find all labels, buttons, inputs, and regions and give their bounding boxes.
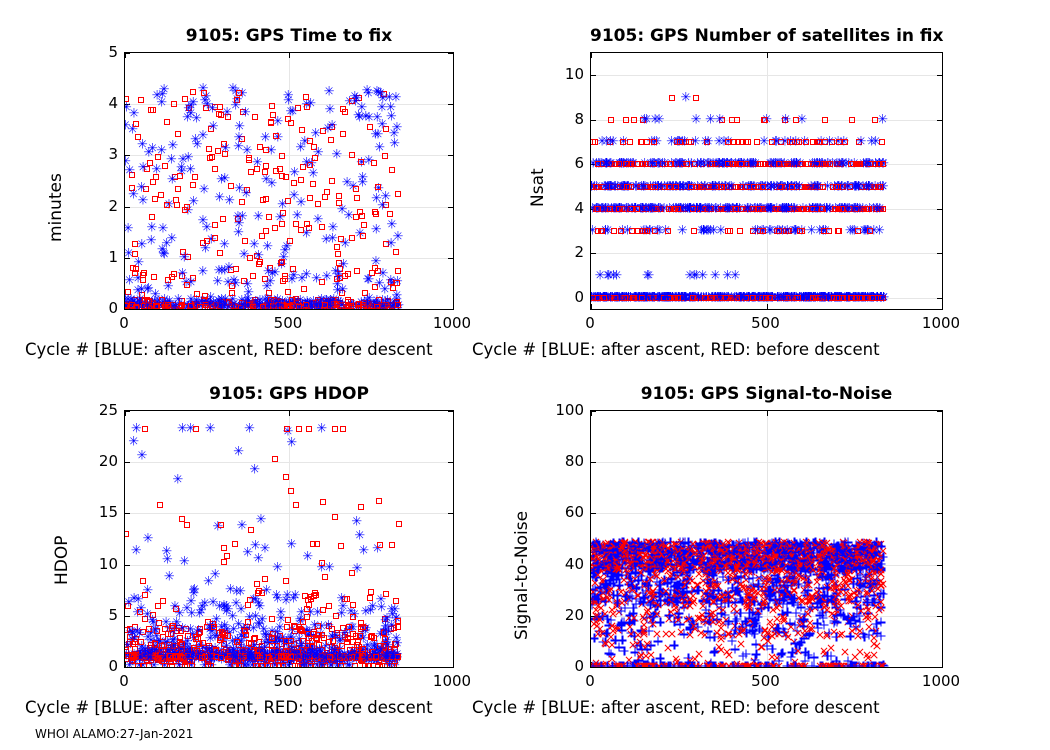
data-point-blue bbox=[618, 636, 627, 645]
data-point-red bbox=[356, 301, 362, 307]
data-point-blue: ✳ bbox=[316, 425, 327, 434]
data-point-blue: ✳ bbox=[336, 609, 347, 618]
data-point-red bbox=[298, 177, 304, 183]
y-tick bbox=[448, 616, 453, 617]
data-point-red bbox=[393, 598, 399, 604]
data-point-blue: ✳ bbox=[282, 592, 293, 601]
data-point-red bbox=[595, 161, 601, 167]
data-point-red bbox=[157, 502, 163, 508]
data-point-red bbox=[269, 103, 275, 109]
y-tick bbox=[125, 462, 130, 463]
plot-area: ✳✳✳✳✳✳✳✳✳✳✳✳✳✳✳✳✳✳✳✳✳✳✳✳✳✳✳✳✳✳✳✳✳✳✳✳✳✳✳✳… bbox=[124, 52, 454, 310]
data-point-red bbox=[162, 663, 168, 668]
data-point-blue: ✳ bbox=[330, 267, 341, 276]
data-point-red bbox=[354, 195, 360, 201]
data-point-red bbox=[326, 603, 332, 609]
data-point-blue: ✳ bbox=[715, 115, 726, 124]
data-point-blue: ✳ bbox=[654, 227, 665, 236]
data-point-blue: ✳ bbox=[726, 182, 737, 191]
data-point-red bbox=[211, 624, 217, 630]
y-tick-label: 25 bbox=[78, 401, 118, 419]
data-point-red bbox=[644, 139, 650, 145]
data-point-red bbox=[389, 542, 395, 548]
data-point-blue: ✳ bbox=[691, 271, 702, 280]
data-point-red bbox=[675, 206, 681, 212]
data-point-red bbox=[160, 598, 166, 604]
data-point-red bbox=[288, 488, 294, 494]
data-point-blue: ✳ bbox=[193, 626, 204, 635]
data-point-red bbox=[769, 139, 775, 145]
data-point-red bbox=[739, 139, 745, 145]
data-point-blue: ✳ bbox=[305, 100, 316, 109]
data-point-red bbox=[708, 295, 714, 301]
y-tick bbox=[125, 53, 130, 54]
y-tick bbox=[937, 75, 942, 76]
data-point-red bbox=[353, 214, 359, 220]
data-point-blue: ✳ bbox=[845, 227, 856, 236]
data-point-blue: ✳ bbox=[374, 144, 385, 153]
data-point-red bbox=[718, 184, 724, 190]
y-tick bbox=[125, 513, 130, 514]
data-point-blue: ✳ bbox=[677, 227, 688, 236]
data-point-red bbox=[387, 211, 393, 217]
data-point-red bbox=[673, 184, 679, 190]
data-point-blue: ✳ bbox=[230, 280, 241, 289]
data-point-red bbox=[141, 663, 147, 668]
data-point-blue: ✳ bbox=[357, 178, 368, 187]
data-point-blue: ✳ bbox=[147, 617, 158, 626]
y-tick bbox=[937, 411, 942, 412]
data-point-red bbox=[212, 235, 218, 241]
data-point-red bbox=[140, 578, 146, 584]
data-point-blue: ✳ bbox=[806, 227, 817, 236]
data-point-red bbox=[760, 228, 766, 234]
y-tick bbox=[448, 513, 453, 514]
data-point-blue: ✳ bbox=[380, 193, 391, 202]
data-point-red bbox=[338, 236, 344, 242]
y-tick bbox=[448, 565, 453, 566]
data-point-red bbox=[816, 139, 822, 145]
data-point-red bbox=[268, 119, 274, 125]
data-point-red bbox=[293, 221, 299, 227]
x-tick-label: 0 bbox=[585, 314, 595, 332]
data-point-blue: ✳ bbox=[257, 616, 268, 625]
data-point-red bbox=[221, 559, 227, 565]
y-tick bbox=[591, 462, 596, 463]
data-point-blue: ✳ bbox=[729, 293, 740, 302]
data-point-red bbox=[319, 224, 325, 230]
gridline bbox=[591, 75, 942, 76]
data-point-blue: ✳ bbox=[675, 160, 686, 169]
data-point-blue: ✳ bbox=[129, 110, 140, 119]
data-point-red bbox=[864, 295, 870, 301]
y-tick bbox=[125, 667, 130, 668]
data-point-red bbox=[252, 114, 258, 120]
data-point-blue: ✳ bbox=[202, 100, 213, 109]
data-point-red bbox=[702, 295, 708, 301]
data-point-red bbox=[197, 304, 203, 310]
data-point-red bbox=[608, 117, 614, 123]
data-point-red bbox=[842, 139, 848, 145]
data-point-blue: ✳ bbox=[220, 174, 231, 183]
data-point-red bbox=[396, 521, 402, 527]
data-point-red bbox=[132, 270, 138, 276]
data-point-blue: ✳ bbox=[286, 540, 297, 549]
data-point-blue: ✳ bbox=[142, 285, 153, 294]
gridline bbox=[591, 513, 942, 514]
data-point-red bbox=[243, 632, 249, 638]
data-point-red bbox=[374, 304, 380, 310]
data-point-red bbox=[304, 221, 310, 227]
y-tick-label: 3 bbox=[78, 145, 118, 163]
data-point-red bbox=[867, 228, 873, 234]
y-tick bbox=[937, 164, 942, 165]
data-point-red bbox=[212, 166, 218, 172]
data-point-blue: ✳ bbox=[714, 138, 725, 147]
y-tick-label: 2 bbox=[544, 243, 584, 261]
data-point-red bbox=[359, 213, 365, 219]
data-point-blue: ✳ bbox=[132, 627, 143, 636]
data-point-blue: ✳ bbox=[780, 115, 791, 124]
data-point-red bbox=[169, 625, 175, 631]
data-point-blue: ✳ bbox=[288, 108, 299, 117]
data-point-red bbox=[232, 541, 238, 547]
data-point-red bbox=[371, 160, 377, 166]
data-point-red bbox=[810, 295, 816, 301]
data-point-blue: ✳ bbox=[249, 466, 260, 475]
data-point-blue: ✳ bbox=[277, 201, 288, 210]
data-point-red bbox=[737, 228, 743, 234]
data-point-blue: ✳ bbox=[253, 213, 264, 222]
data-point-red bbox=[177, 653, 183, 659]
data-point-blue: ✳ bbox=[298, 662, 309, 668]
data-point-red bbox=[265, 663, 271, 668]
panel-gps-number-of-satellites: 9105: GPS Number of satellites in fix ✳✳… bbox=[590, 52, 943, 310]
data-point-blue: ✳ bbox=[219, 241, 230, 250]
data-point-blue: ✳ bbox=[197, 603, 208, 612]
x-tick bbox=[453, 53, 454, 58]
data-point-red bbox=[612, 161, 618, 167]
data-point-red bbox=[797, 228, 803, 234]
gridline bbox=[591, 462, 942, 463]
data-point-blue: ✳ bbox=[138, 196, 149, 205]
data-point-red bbox=[358, 159, 364, 165]
data-point-red bbox=[153, 304, 159, 310]
data-point-blue: ✳ bbox=[214, 193, 225, 202]
data-point-blue: ✳ bbox=[358, 546, 369, 555]
data-point-blue: ✳ bbox=[242, 281, 253, 290]
data-point-blue: ✳ bbox=[787, 293, 798, 302]
data-point-red bbox=[301, 286, 307, 292]
x-tick bbox=[942, 304, 943, 309]
data-point-blue: ✳ bbox=[199, 185, 210, 194]
data-point-blue: ✳ bbox=[878, 293, 889, 302]
y-tick bbox=[937, 120, 942, 121]
data-point-blue: ✳ bbox=[198, 267, 209, 276]
data-point-red bbox=[665, 228, 671, 234]
data-point-red bbox=[763, 295, 769, 301]
x-tick bbox=[289, 411, 290, 416]
data-point-red bbox=[839, 206, 845, 212]
data-point-blue: ✳ bbox=[219, 621, 230, 630]
data-point-red bbox=[208, 663, 214, 668]
data-point-red bbox=[259, 663, 265, 668]
data-point-red bbox=[732, 161, 738, 167]
data-point-red bbox=[307, 138, 313, 144]
plot-area: ✳✳✳✳✳✳✳✳✳✳✳✳✳✳✳✳✳✳✳✳✳✳✳✳✳✳✳✳✳✳✳✳✳✳✳✳✳✳✳✳… bbox=[124, 410, 454, 668]
data-point-blue: ✳ bbox=[269, 302, 280, 310]
data-point-red bbox=[635, 161, 641, 167]
data-point-blue: ✳ bbox=[131, 425, 142, 434]
x-tick-label: 500 bbox=[274, 314, 303, 332]
data-point-red bbox=[734, 117, 740, 123]
data-point-red bbox=[174, 202, 180, 208]
y-tick-label: 5 bbox=[78, 43, 118, 61]
data-point-red bbox=[395, 191, 401, 197]
figure-canvas: 9105: GPS Time to fix ✳✳✳✳✳✳✳✳✳✳✳✳✳✳✳✳✳✳… bbox=[0, 0, 1050, 750]
data-point-red bbox=[263, 147, 269, 153]
data-point-red bbox=[164, 119, 170, 125]
data-point-red bbox=[259, 233, 265, 239]
x-tick-label: 0 bbox=[119, 314, 129, 332]
y-tick bbox=[448, 53, 453, 54]
data-point-red bbox=[332, 514, 338, 520]
data-point-red bbox=[382, 663, 388, 668]
data-point-red bbox=[756, 206, 762, 212]
y-tick bbox=[937, 462, 942, 463]
x-tick-label: 500 bbox=[751, 314, 780, 332]
data-point-red bbox=[849, 295, 855, 301]
data-point-blue: ✳ bbox=[167, 141, 178, 150]
data-point-blue: ✳ bbox=[164, 573, 175, 582]
data-point-red bbox=[135, 134, 141, 140]
data-point-red bbox=[395, 624, 401, 630]
panel-title: 9105: GPS Signal-to-Noise bbox=[590, 384, 943, 404]
x-tick bbox=[942, 662, 943, 667]
data-point-red bbox=[690, 295, 696, 301]
y-axis-title: HDOP bbox=[52, 535, 72, 585]
data-point-red bbox=[272, 225, 278, 231]
data-point-red bbox=[254, 581, 260, 587]
data-point-red bbox=[221, 545, 227, 551]
data-point-blue: ✳ bbox=[271, 592, 282, 601]
data-point-blue: ✳ bbox=[874, 227, 885, 236]
data-point-blue: ✳ bbox=[779, 204, 790, 213]
data-point-red bbox=[634, 206, 640, 212]
data-point-blue: ✳ bbox=[178, 156, 189, 165]
data-point-blue: ✳ bbox=[249, 240, 260, 249]
data-point-red bbox=[184, 663, 190, 668]
data-point-red bbox=[348, 303, 354, 309]
data-point-blue: ✳ bbox=[386, 221, 397, 230]
data-point-red bbox=[273, 133, 279, 139]
data-point-blue: ✳ bbox=[236, 606, 247, 615]
y-tick-label: 1 bbox=[78, 248, 118, 266]
data-point-red bbox=[269, 616, 275, 622]
data-point-blue: ✳ bbox=[311, 274, 322, 283]
panel-title: 9105: GPS Time to fix bbox=[124, 26, 454, 46]
y-tick-label: 2 bbox=[78, 197, 118, 215]
data-point-blue: ✳ bbox=[854, 204, 865, 213]
data-point-red bbox=[611, 228, 617, 234]
data-point-red bbox=[296, 426, 302, 432]
y-tick bbox=[448, 309, 453, 310]
data-point-blue: ✳ bbox=[287, 276, 298, 285]
x-tick bbox=[942, 53, 943, 58]
data-point-red bbox=[218, 655, 224, 661]
data-point-blue: ✳ bbox=[136, 241, 147, 250]
data-point-blue: ✳ bbox=[824, 138, 835, 147]
data-point-red bbox=[377, 542, 383, 548]
data-point-blue: ✳ bbox=[614, 293, 625, 302]
data-point-blue: ✳ bbox=[151, 165, 162, 174]
x-tick bbox=[767, 53, 768, 58]
data-point-blue: ✳ bbox=[661, 293, 672, 302]
data-point-blue: ✳ bbox=[308, 170, 319, 179]
data-point-blue: ✳ bbox=[198, 217, 209, 226]
y-tick bbox=[591, 411, 596, 412]
data-point-red bbox=[257, 144, 263, 150]
data-point-blue: ✳ bbox=[393, 233, 404, 242]
data-point-blue: ✳ bbox=[224, 662, 235, 668]
y-tick-label: 5 bbox=[78, 606, 118, 624]
data-point-blue: ✳ bbox=[705, 115, 716, 124]
data-point-blue: ✳ bbox=[256, 516, 267, 525]
data-point-red bbox=[169, 663, 175, 668]
data-point-blue: ✳ bbox=[210, 632, 221, 641]
gridline bbox=[591, 253, 942, 254]
data-point-red bbox=[358, 504, 364, 510]
data-point-red bbox=[776, 161, 782, 167]
data-point-blue: ✳ bbox=[208, 123, 219, 132]
y-tick bbox=[591, 253, 596, 254]
data-point-blue: ✳ bbox=[336, 302, 347, 310]
data-point-blue: ✳ bbox=[241, 189, 252, 198]
y-tick bbox=[448, 155, 453, 156]
data-point-blue: ✳ bbox=[219, 303, 230, 310]
data-point-blue: ✳ bbox=[262, 242, 273, 251]
data-point-blue: ✳ bbox=[240, 109, 251, 118]
data-point-red bbox=[793, 117, 799, 123]
data-point-blue: ✳ bbox=[356, 104, 367, 113]
data-point-blue: ✳ bbox=[161, 639, 172, 648]
data-point-red bbox=[789, 139, 795, 145]
data-point-red bbox=[206, 146, 212, 152]
data-point-blue: ✳ bbox=[235, 587, 246, 596]
x-tick-label: 1000 bbox=[433, 672, 471, 690]
data-point-red bbox=[340, 426, 346, 432]
data-point-blue: ✳ bbox=[638, 182, 649, 191]
data-point-blue: ✳ bbox=[205, 300, 216, 309]
data-point-red bbox=[130, 265, 136, 271]
data-point-red bbox=[164, 202, 170, 208]
data-point-red bbox=[595, 206, 601, 212]
data-point-blue: ✳ bbox=[295, 144, 306, 153]
data-point-blue: ✳ bbox=[654, 115, 665, 124]
data-point-red bbox=[796, 139, 802, 145]
data-point-red bbox=[279, 221, 285, 227]
data-point-blue: ✳ bbox=[242, 147, 253, 156]
data-point-red bbox=[262, 169, 268, 175]
y-tick bbox=[937, 298, 942, 299]
y-tick bbox=[937, 565, 942, 566]
y-tick-label: 8 bbox=[544, 110, 584, 128]
data-point-red bbox=[620, 139, 626, 145]
data-point-red bbox=[291, 623, 297, 629]
data-point-blue: ✳ bbox=[363, 275, 374, 284]
data-point-red bbox=[184, 522, 190, 528]
data-point-red bbox=[284, 426, 290, 432]
data-point-blue: ✳ bbox=[354, 532, 365, 541]
data-point-blue: ✳ bbox=[321, 236, 332, 245]
data-point-red bbox=[340, 131, 346, 137]
data-point-red bbox=[218, 522, 224, 528]
data-point-red bbox=[729, 117, 735, 123]
data-point-red bbox=[224, 553, 230, 559]
data-point-red bbox=[360, 233, 366, 239]
y-tick-label: 10 bbox=[78, 555, 118, 573]
data-point-blue: ✳ bbox=[877, 115, 888, 124]
data-point-blue: ✳ bbox=[142, 302, 153, 310]
data-point-red bbox=[266, 214, 272, 220]
data-point-red bbox=[836, 295, 842, 301]
data-point-red bbox=[642, 161, 648, 167]
data-point-red bbox=[248, 527, 254, 533]
data-point-red bbox=[150, 107, 156, 113]
data-point-red bbox=[303, 94, 309, 100]
data-point-red bbox=[319, 560, 325, 566]
data-point-blue: ✳ bbox=[371, 226, 382, 235]
data-point-red bbox=[623, 117, 629, 123]
x-tick-label: 1000 bbox=[433, 314, 471, 332]
data-point-blue: ✳ bbox=[230, 101, 241, 110]
data-point-blue: ✳ bbox=[609, 182, 620, 191]
data-point-blue: ✳ bbox=[703, 138, 714, 147]
data-point-red bbox=[373, 654, 379, 660]
data-point-red bbox=[353, 633, 359, 639]
data-point-red bbox=[599, 228, 605, 234]
data-point-red bbox=[124, 531, 129, 537]
data-point-blue: ✳ bbox=[370, 130, 381, 139]
data-point-red bbox=[803, 139, 809, 145]
data-point-blue: ✳ bbox=[325, 106, 336, 115]
data-point-red bbox=[338, 543, 344, 549]
data-point-red bbox=[315, 201, 321, 207]
data-point-blue: ✳ bbox=[289, 168, 300, 177]
data-point-red bbox=[179, 516, 185, 522]
data-point-red bbox=[306, 426, 312, 432]
data-point-blue: ✳ bbox=[219, 602, 230, 611]
data-point-red bbox=[283, 578, 289, 584]
data-point-red bbox=[255, 590, 261, 596]
data-point-red bbox=[322, 302, 328, 308]
data-point-blue: ✳ bbox=[163, 282, 174, 291]
y-tick-label: 20 bbox=[78, 452, 118, 470]
data-point-red bbox=[821, 228, 827, 234]
data-point-blue: ✳ bbox=[292, 211, 303, 220]
y-tick bbox=[448, 667, 453, 668]
data-point-red bbox=[129, 653, 135, 659]
data-point-red bbox=[336, 200, 342, 206]
x-tick-label: 0 bbox=[119, 672, 129, 690]
data-point-red bbox=[856, 161, 862, 167]
data-point-red bbox=[354, 268, 360, 274]
data-point-blue: ✳ bbox=[392, 124, 403, 133]
data-point-red bbox=[234, 639, 240, 645]
data-point-red bbox=[733, 206, 739, 212]
data-point-red bbox=[836, 228, 842, 234]
data-point-blue: ✳ bbox=[836, 160, 847, 169]
